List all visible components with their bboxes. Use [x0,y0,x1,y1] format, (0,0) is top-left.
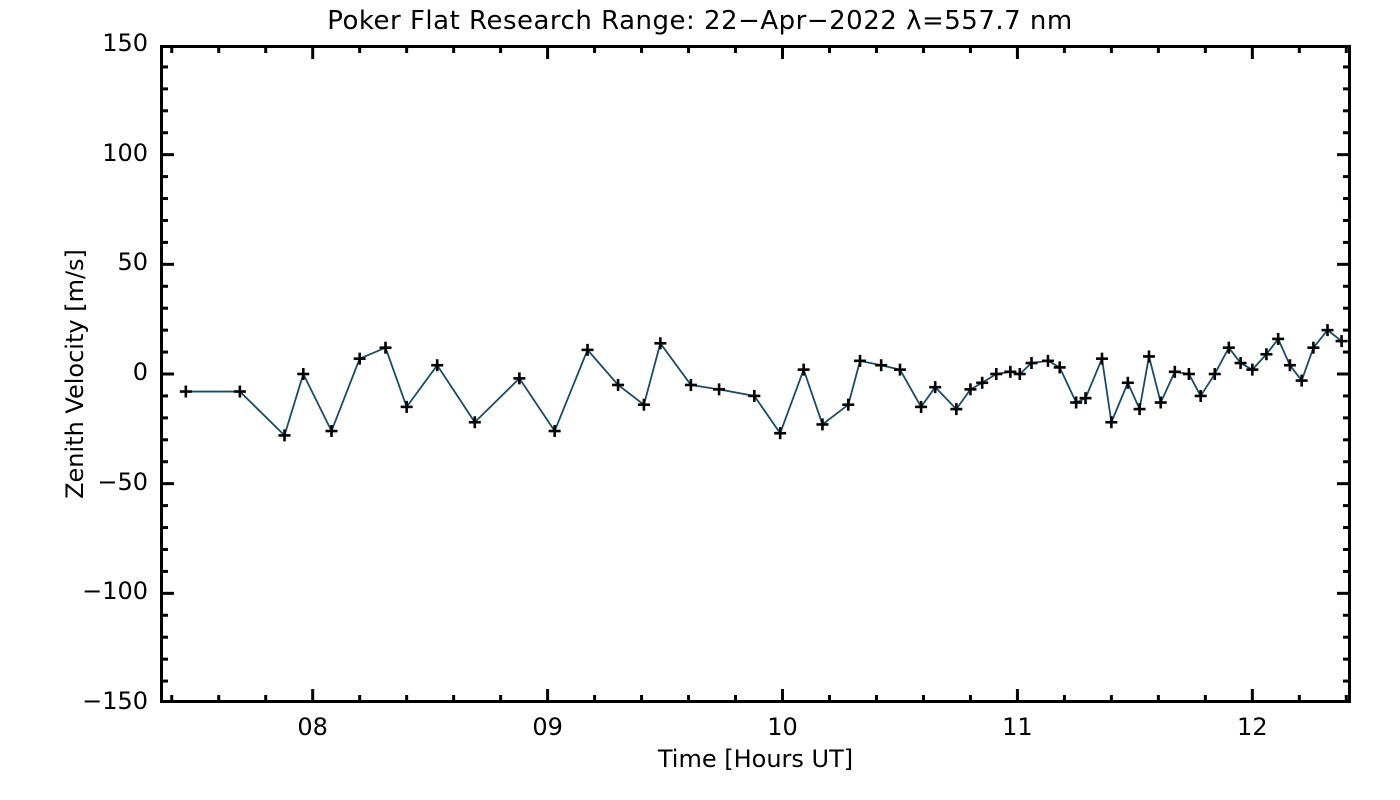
data-point-marker [894,364,906,376]
data-point-marker [1105,416,1117,428]
plot-area [160,45,1351,703]
data-point-marker [325,425,337,437]
axes-and-data-svg [160,45,1351,703]
y-tick-label: −50 [38,468,148,496]
x-tick-label: 08 [273,713,353,741]
data-point-marker [1004,366,1016,378]
data-point-marker [1183,368,1195,380]
y-tick-label: 100 [38,139,148,167]
x-tick-label: 09 [508,713,588,741]
data-point-marker [1195,390,1207,402]
data-point-marker [1155,397,1167,409]
data-point-marker [654,337,666,349]
data-point-marker [1209,368,1221,380]
data-point-marker [354,353,366,365]
data-point-marker [1169,366,1181,378]
y-tick-label: −100 [38,577,148,605]
data-point-marker [1054,361,1066,373]
y-tick-label: −150 [38,687,148,715]
data-series-zenith-velocity [180,324,1348,441]
y-tick-label: 0 [38,358,148,386]
x-axis-label: Time [Hours UT] [160,745,1351,773]
x-tick-label: 12 [1212,713,1292,741]
data-point-marker [748,390,760,402]
page-title: Poker Flat Research Range: 22−Apr−2022 λ… [0,6,1400,36]
data-point-marker [401,401,413,413]
plot-figure: Poker Flat Research Range: 22−Apr−2022 λ… [0,0,1400,800]
data-point-marker [1122,377,1134,389]
data-point-marker [431,359,443,371]
x-tick-label: 11 [977,713,1057,741]
data-point-marker [180,386,192,398]
data-point-marker [713,383,725,395]
data-point-marker [1042,355,1054,367]
plot-frame [162,47,1350,702]
data-point-marker [976,377,988,389]
data-point-marker [1134,403,1146,415]
data-line [186,330,1342,435]
data-point-marker [685,379,697,391]
data-point-marker [915,401,927,413]
data-point-marker [774,427,786,439]
y-tick-label: 150 [38,29,148,57]
x-tick-label: 10 [743,713,823,741]
data-point-marker [1096,353,1108,365]
data-point-marker [964,383,976,395]
data-point-marker [798,364,810,376]
data-point-marker [380,342,392,354]
axis-ticks [160,45,1351,703]
data-point-marker [1143,350,1155,362]
axes-frame [162,47,1350,702]
y-tick-label: 50 [38,248,148,276]
data-point-marker [549,425,561,437]
data-point-marker [875,359,887,371]
data-point-marker [297,368,309,380]
data-point-marker [854,355,866,367]
data-point-marker [990,368,1002,380]
